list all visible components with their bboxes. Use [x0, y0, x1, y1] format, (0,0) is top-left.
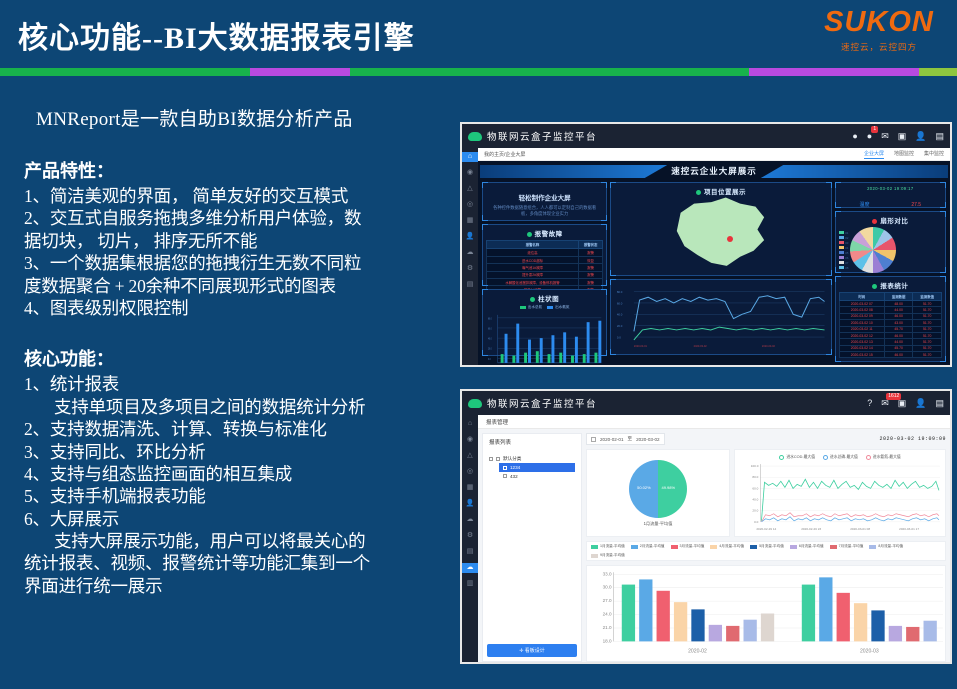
main-panel: 我的主页/企业大屏 企业大屏 地图监控 集中监控 速控云企业大屏展示 — [478, 148, 950, 367]
sidebar-item-dashboard[interactable]: ◉ — [462, 435, 478, 445]
notification-badge: 1 — [871, 126, 878, 133]
legend-item: 2月流量-平均值 — [631, 544, 665, 549]
feature-line: 3、一个数据集根据您的拖拽衍生无数不同粒 — [24, 252, 452, 274]
legend-item: 6月流量-平均值 — [790, 544, 824, 549]
user-icon[interactable]: 👤 — [915, 132, 926, 141]
svg-text:2020-02-29 14: 2020-02-29 14 — [756, 527, 776, 531]
tree-node-root[interactable]: 默认分类 — [489, 454, 575, 463]
tab-central-monitor[interactable]: 集中监控 — [924, 150, 944, 159]
breadcrumb: 我的主页/企业大屏 — [484, 151, 525, 158]
temperature-value: 27.5 — [911, 202, 921, 208]
top-charts-row: 49.98% 50.02% 1月流量-平均值 进水COD-最大值 进水总磷-最大… — [586, 449, 946, 537]
bigscreen-center-column: 项目位置展示 — [610, 182, 831, 352]
sidebar-item-alerts[interactable]: △ — [462, 451, 478, 461]
alert-icon[interactable]: ▣ — [898, 132, 907, 141]
svg-text:2020-03-01 17: 2020-03-01 17 — [899, 527, 919, 531]
table-row: 水解酸化池搅拌故障，设备停机报警报警 — [487, 278, 603, 285]
sidebar-item-home[interactable]: ⌂ — [462, 152, 478, 162]
bar-panel-title: 柱状图 — [486, 293, 603, 303]
logout-icon[interactable]: ▤ — [935, 399, 944, 408]
breadcrumb-bar-2: 报表管理 — [478, 415, 950, 429]
help-icon[interactable]: ● — [852, 132, 857, 141]
page-title: 核心功能--BI大数据报表引擎 — [18, 13, 415, 57]
report-line-chart: 100.080.0 60.040.0 20.00.0 2020-02-29 14… — [738, 460, 942, 533]
pie-chart-caption: 1月流量-平均值 — [644, 521, 673, 527]
design-button[interactable]: ✛ 看板设计 — [487, 644, 577, 657]
sidebar-item-alerts[interactable]: △ — [462, 184, 478, 194]
accent-segment-green-1 — [0, 68, 250, 76]
temperature-label: 温度 — [860, 202, 870, 208]
file-icon — [503, 466, 507, 470]
location-pin-icon — [696, 190, 701, 195]
bigscreen-bar-chart: 80.060.0 40.020.00.0 2020-03-01 082020-0… — [486, 312, 603, 367]
accent-segment-purple-2 — [749, 68, 919, 76]
status-dot-icon — [527, 232, 532, 237]
bar-legend: 出水总氮 出水氨氮 — [486, 305, 603, 310]
line-chart-legend: 进水COD-最大值 进水总磷-最大值 进水氨氮-最大值 — [738, 453, 942, 460]
svg-text:80.0: 80.0 — [752, 475, 758, 479]
promo-title: 轻松制作企业大屏 — [486, 192, 603, 202]
cloud-logo-icon — [468, 399, 482, 408]
slide-root: 核心功能--BI大数据报表引擎 SUKON 速控云，云控四方 MNReport是… — [0, 0, 957, 689]
folder-icon — [496, 457, 500, 461]
bar-chart-card: 33.030.0 27.024.0 21.018.0 2020-022020-0… — [586, 565, 946, 662]
sidebar-item-users[interactable]: 👤 — [462, 232, 478, 242]
section-title-features: 产品特性： — [24, 157, 452, 183]
slide-header: 核心功能--BI大数据报表引擎 SUKON 速控云，云控四方 — [0, 0, 957, 68]
feature-line: 据切块， 切片， 排序无所不能 — [24, 230, 452, 252]
feature-line: 度数据聚合 + 20余种不同展现形式的图表 — [24, 275, 452, 297]
bar-panel: 柱状图 出水总氮 出水氨氮 — [482, 289, 607, 355]
realtime-values: 温度 27.5 — [839, 193, 942, 211]
table-row: 进水COD超标恢复 — [487, 256, 603, 263]
svg-text:20.0: 20.0 — [617, 324, 623, 328]
screenshot-bigscreen-dashboard: 物联网云盒子监控平台 ● ● ✉ 1 ▣ 👤 ▤ ⌂ ◉ △ ◎ ▦ 👤 ☁ — [460, 122, 952, 367]
accent-divider — [0, 68, 957, 76]
date-to: 2020-03-02 — [636, 437, 660, 442]
content-text-column: MNReport是一款自助BI数据分析产品 产品特性： 1、简洁美观的界面， 简… — [24, 104, 452, 597]
realtime-panel: 2020-03-02 19:09:17 温度 27.5 湿度 45.70 — [835, 182, 946, 208]
legend-item: 5月流量-平均值 — [750, 544, 784, 549]
bigscreen-pie-chart — [850, 227, 896, 273]
date-separator: 至 — [628, 436, 633, 442]
app-body-2: ⌂ ◉ △ ◎ ▦ 👤 ☁ ⚙ ▤ ☁ ▥ 报表管理 报表列表 — [462, 415, 950, 664]
bigscreen-title: 速控云企业大屏展示 — [480, 165, 948, 178]
bigscreen-left-column: 轻松制作企业大屏 各种控件数据随意组合，人人都可以定制自己的数据看板，多角度体现… — [482, 182, 607, 352]
map-panel-title: 项目位置展示 — [614, 186, 827, 196]
bigscreen-trend-chart: 80.060.0 40.020.00.0 2020-03-012020-03-0… — [614, 283, 827, 351]
svg-text:20.0: 20.0 — [488, 348, 492, 352]
sidebar-item-more[interactable]: ▥ — [462, 579, 478, 589]
report-toolbar: 2020-02-01 至 2020-03-02 2020-03-02 19:09… — [586, 433, 946, 445]
svg-text:60.0: 60.0 — [617, 301, 623, 305]
sidebar-item-projects[interactable]: ▦ — [462, 483, 478, 493]
core-line: 1、统计报表 — [24, 373, 452, 395]
sidebar-item-reports[interactable]: ☁ — [462, 563, 478, 573]
main-panel-2: 报表管理 报表列表 默认分类 — [478, 415, 950, 664]
svg-text:21.0: 21.0 — [603, 625, 612, 630]
titlebar-icon-group: ● ● ✉ 1 ▣ 👤 ▤ — [852, 132, 944, 141]
brand-logo: SUKON 速控云，云控四方 — [815, 8, 943, 53]
sidebar-item-users[interactable]: 👤 — [462, 499, 478, 509]
table-header-row: 时间 监测数据 监测数值 — [839, 293, 941, 301]
section-spacer — [24, 319, 452, 345]
table-row: 液位高报警 — [487, 249, 603, 256]
sidebar-item-data[interactable]: ▤ — [462, 280, 478, 290]
report-stat-panel: 报表统计 时间 监测数据 监测数值 2020-03-02 0748.0051.7… — [835, 276, 946, 362]
notification-badge: 1612 — [886, 393, 901, 400]
feature-line: 2、交互式自服务拖拽多维分析用户体验，数 — [24, 207, 452, 229]
table-row: 提升泵2#故障报警 — [487, 271, 603, 278]
sidebar-item-settings[interactable]: ⚙ — [462, 264, 478, 274]
svg-text:27.0: 27.0 — [603, 598, 612, 603]
mail-icon[interactable]: ✉ — [881, 399, 889, 408]
left-nav-sidebar[interactable]: ⌂ ◉ △ ◎ ▦ 👤 ☁ ⚙ ▤ — [462, 148, 478, 367]
svg-text:20.0: 20.0 — [752, 509, 758, 513]
report-content: 报表列表 默认分类 1234 — [478, 429, 950, 664]
svg-text:80.0: 80.0 — [617, 290, 623, 294]
screenshot-report-management: 物联网云盒子监控平台 ? ✉ 1612 ▣ 👤 ▤ ⌂ ◉ △ ◎ ▦ 👤 ☁ … — [460, 389, 952, 664]
svg-text:2020-02-29 23: 2020-02-29 23 — [801, 527, 821, 531]
mail-icon[interactable]: ✉ — [881, 132, 889, 141]
sidebar-item-dashboard[interactable]: ◉ — [462, 168, 478, 178]
table-row: 2020-03-02 1546.0051.70 — [839, 352, 941, 358]
message-icon[interactable]: ● — [867, 132, 872, 141]
left-nav-sidebar-2[interactable]: ⌂ ◉ △ ◎ ▦ 👤 ☁ ⚙ ▤ ☁ ▥ — [462, 415, 478, 664]
status-dot-icon — [872, 219, 877, 224]
china-map-graphic — [673, 196, 769, 272]
promo-subtitle: 各种控件数据随意组合，人人都可以定制自己的数据看板，多角度体现企业实力 — [486, 205, 603, 217]
svg-text:0.0: 0.0 — [617, 335, 621, 339]
app-title: 物联网云盒子监控平台 — [487, 129, 597, 143]
logo-wordmark: SUKON — [815, 8, 943, 37]
legend-item: 7月流量-平均值 — [830, 544, 864, 549]
sidebar-item-home[interactable]: ⌂ — [462, 419, 478, 429]
table-header-row: 报警名称 报警状态 — [487, 241, 603, 249]
svg-text:40.0: 40.0 — [617, 313, 623, 317]
pie-panel: 扇形对比 01 02 03 04 05 06 — [835, 211, 946, 273]
user-icon[interactable]: 👤 — [915, 399, 926, 408]
svg-text:18.0: 18.0 — [603, 638, 612, 643]
bigscreen-canvas: 速控云企业大屏展示 轻松制作企业大屏 各种控件数据随意组合，人人都可以定制自己的… — [478, 161, 950, 367]
legend-item: 9月流量-平均值 — [591, 553, 625, 558]
pie-slice-label-a: 49.98% — [661, 485, 675, 490]
center-trend-panel: 80.060.0 40.020.00.0 2020-03-012020-03-0… — [610, 279, 831, 355]
bigscreen-grid: 轻松制作企业大屏 各种控件数据随意组合，人人都可以定制自己的数据看板，多角度体现… — [480, 180, 948, 354]
bar-chart-legend: 1月流量-平均值 2月流量-平均值 3月流量-平均值 4月流量-平均值 5月流量… — [586, 541, 946, 561]
date-from: 2020-02-01 — [600, 437, 624, 442]
realtime-timestamp: 2020-03-02 19:09:17 — [839, 186, 942, 191]
core-line: 统计报表、视频、报警统计等功能汇集到一个 — [24, 552, 452, 574]
promo-panel: 轻松制作企业大屏 各种控件数据随意组合，人人都可以定制自己的数据看板，多角度体现… — [482, 182, 607, 221]
tab-enterprise-screen[interactable]: 企业大屏 — [864, 150, 884, 159]
sidebar-item-devices[interactable]: ◎ — [462, 200, 478, 210]
breadcrumb-bar: 我的主页/企业大屏 企业大屏 地图监控 集中监控 — [478, 148, 950, 161]
legend-item: 出水氨氮 — [547, 305, 569, 310]
svg-text:30.0: 30.0 — [603, 585, 612, 590]
report-stat-table: 时间 监测数据 监测数值 2020-03-02 0748.0051.70 202… — [839, 292, 942, 358]
app-title-2: 物联网云盒子监控平台 — [487, 396, 597, 410]
svg-text:0.0: 0.0 — [488, 358, 491, 362]
table-row: 曝气池1#故障报警 — [487, 264, 603, 271]
core-line: 5、支持手机端报表功能 — [24, 485, 452, 507]
alert-icon[interactable]: ▣ — [898, 399, 907, 408]
svg-text:2020-03-02: 2020-03-02 — [762, 344, 776, 348]
core-line: 支持大屏展示功能，用户可以将最关心的 — [24, 530, 452, 552]
status-dot-icon — [530, 297, 535, 302]
bigscreen-right-column: 2020-03-02 19:09:17 温度 27.5 湿度 45.70 — [835, 182, 946, 352]
svg-text:60.0: 60.0 — [752, 486, 758, 490]
col-alarm-status: 报警状态 — [579, 241, 603, 249]
current-timestamp: 2020-03-02 19:09:09 — [879, 436, 946, 442]
sidebar-item-reports[interactable]: ▦ — [462, 216, 478, 226]
accent-segment-green-2 — [350, 68, 749, 76]
pie-legend: 01 02 03 04 05 06 07 08 — [839, 231, 849, 270]
svg-text:2020-03-01 08: 2020-03-01 08 — [850, 527, 870, 531]
report-list-card: 报表列表 默认分类 1234 — [482, 433, 582, 662]
logout-icon[interactable]: ▤ — [935, 132, 944, 141]
pie-panel-title: 扇形对比 — [839, 215, 942, 225]
report-bar-chart: 33.030.0 27.024.0 21.018.0 2020-022020-0… — [587, 566, 945, 661]
report-charts-area: 2020-02-01 至 2020-03-02 2020-03-02 19:09… — [586, 433, 946, 662]
map-panel: 项目位置展示 — [610, 182, 831, 276]
titlebar-icon-group-2: ? ✉ 1612 ▣ 👤 ▤ — [867, 399, 944, 408]
sidebar-item-settings[interactable]: ⚙ — [462, 531, 478, 541]
svg-text:40.0: 40.0 — [488, 338, 492, 342]
alarm-panel-title: 报警故障 — [486, 228, 603, 238]
legend-item: 8月流量-平均值 — [869, 544, 903, 549]
tree-node-1234[interactable]: 1234 — [499, 463, 575, 472]
help-icon[interactable]: ? — [867, 399, 872, 408]
file-icon — [503, 474, 507, 478]
svg-text:24.0: 24.0 — [603, 612, 612, 617]
app-titlebar: 物联网云盒子监控平台 ● ● ✉ 1 ▣ 👤 ▤ — [462, 124, 950, 148]
feature-line: 4、图表级别权限控制 — [24, 297, 452, 319]
pie-chart-card: 49.98% 50.02% 1月流量-平均值 — [586, 449, 730, 537]
col-alarm-name: 报警名称 — [487, 241, 579, 249]
lead-paragraph: MNReport是一款自助BI数据分析产品 — [36, 104, 452, 131]
tab-map-monitor[interactable]: 地图监控 — [894, 150, 914, 159]
core-line: 2、支持数据清洗、计算、转换与标准化 — [24, 418, 452, 440]
cloud-logo-icon — [468, 132, 482, 141]
svg-text:40.0: 40.0 — [752, 498, 758, 502]
expand-icon[interactable] — [489, 457, 493, 461]
core-line: 3、支持同比、环比分析 — [24, 441, 452, 463]
core-line: 界面进行统一展示 — [24, 575, 452, 597]
svg-text:80.0: 80.0 — [488, 317, 492, 321]
line-chart-card: 进水COD-最大值 进水总磷-最大值 进水氨氮-最大值 — [734, 449, 946, 537]
accent-segment-lightgreen — [919, 68, 957, 76]
sidebar-item-data[interactable]: ▤ — [462, 547, 478, 557]
svg-text:2020-03-02: 2020-03-02 — [694, 344, 708, 348]
breadcrumb-2: 报表管理 — [486, 418, 508, 426]
legend-item: 4月流量-平均值 — [710, 544, 744, 549]
feature-line: 1、简洁美观的界面， 简单友好的交互模式 — [24, 185, 452, 207]
section-title-core: 核心功能： — [24, 345, 452, 371]
report-tree: 默认分类 1234 432 — [483, 450, 581, 640]
pie-chart-wrap: 01 02 03 04 05 06 07 08 — [839, 225, 942, 275]
status-dot-icon — [872, 284, 877, 289]
svg-text:100.0: 100.0 — [751, 464, 759, 468]
report-panel-title: 报表统计 — [839, 280, 942, 290]
legend-item: 1月流量-平均值 — [591, 544, 625, 549]
app-body: ⌂ ◉ △ ◎ ▦ 👤 ☁ ⚙ ▤ 我的主页/企业大屏 企业大屏 地图监控 集中… — [462, 148, 950, 367]
svg-text:2020-03: 2020-03 — [860, 649, 879, 655]
core-line: 支持单项目及多项目之间的数据统计分析 — [24, 396, 452, 418]
logo-tagline: 速控云，云控四方 — [815, 41, 943, 53]
pie-slice-label-b: 50.02% — [637, 485, 651, 490]
legend-item: 3月流量-平均值 — [671, 544, 705, 549]
core-line: 4、支持与组态监控画面的相互集成 — [24, 463, 452, 485]
report-list-title: 报表列表 — [483, 434, 581, 450]
alarm-panel: 报警故障 报警名称 报警状态 液位高报警 进水COD超标恢复 曝气池 — [482, 224, 607, 286]
sidebar-item-devices[interactable]: ◎ — [462, 467, 478, 477]
sidebar-item-cloud[interactable]: ☁ — [462, 515, 478, 525]
sidebar-item-cloud[interactable]: ☁ — [462, 248, 478, 258]
svg-text:2020-02: 2020-02 — [688, 649, 707, 655]
bigscreen-header: 速控云企业大屏展示 — [480, 163, 948, 180]
svg-text:33.0: 33.0 — [603, 571, 612, 576]
core-line: 6、大屏展示 — [24, 508, 452, 530]
svg-text:2020-03-01: 2020-03-01 — [634, 344, 648, 348]
calendar-icon — [591, 437, 596, 442]
tab-bar: 企业大屏 地图监控 集中监控 — [864, 150, 944, 159]
accent-segment-purple-1 — [250, 68, 350, 76]
svg-text:0.0: 0.0 — [754, 520, 759, 524]
app-titlebar-2: 物联网云盒子监控平台 ? ✉ 1612 ▣ 👤 ▤ — [462, 391, 950, 415]
svg-text:60.0: 60.0 — [488, 328, 492, 332]
legend-item: 出水总氮 — [520, 305, 542, 310]
report-pie-chart: 49.98% 50.02% — [629, 460, 687, 518]
tree-node-432[interactable]: 432 — [499, 472, 575, 480]
date-range-picker[interactable]: 2020-02-01 至 2020-03-02 — [586, 433, 665, 445]
